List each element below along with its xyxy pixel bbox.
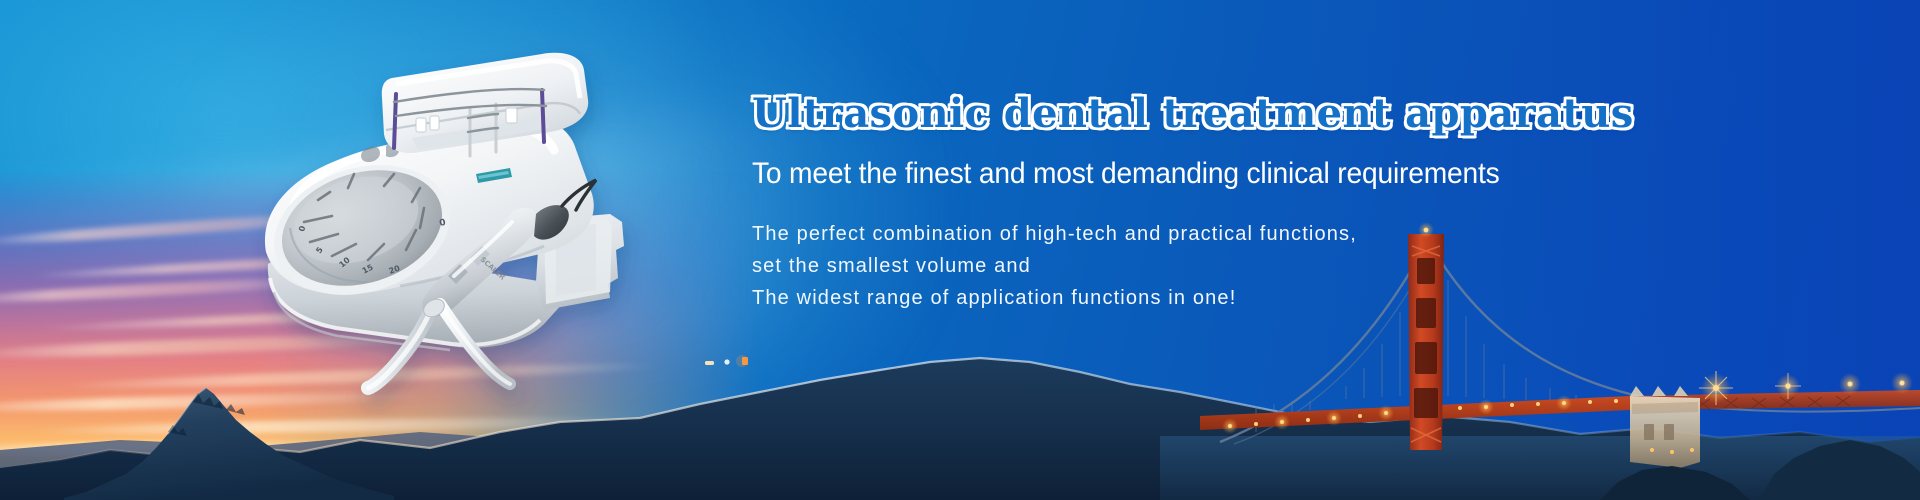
body-line-1: The perfect combination of high-tech and… (752, 218, 1652, 250)
banner-body-text: The perfect combination of high-tech and… (752, 218, 1652, 314)
rocky-headland-left (64, 370, 394, 500)
promo-banner: 20 15 10 5 0 0 (0, 0, 1920, 500)
ridge-lights (705, 355, 748, 367)
body-line-2: set the smallest volume and (752, 250, 1652, 282)
body-line-3: The widest range of application function… (752, 282, 1652, 314)
banner-headline: Ultrasonic dental treatment apparatus (752, 92, 1652, 135)
banner-copy: Ultrasonic dental treatment apparatus To… (752, 92, 1652, 314)
banner-subheadline: To meet the finest and most demanding cl… (752, 157, 1598, 191)
ultrasonic-dental-scaler-image: 20 15 10 5 0 0 (244, 46, 704, 386)
